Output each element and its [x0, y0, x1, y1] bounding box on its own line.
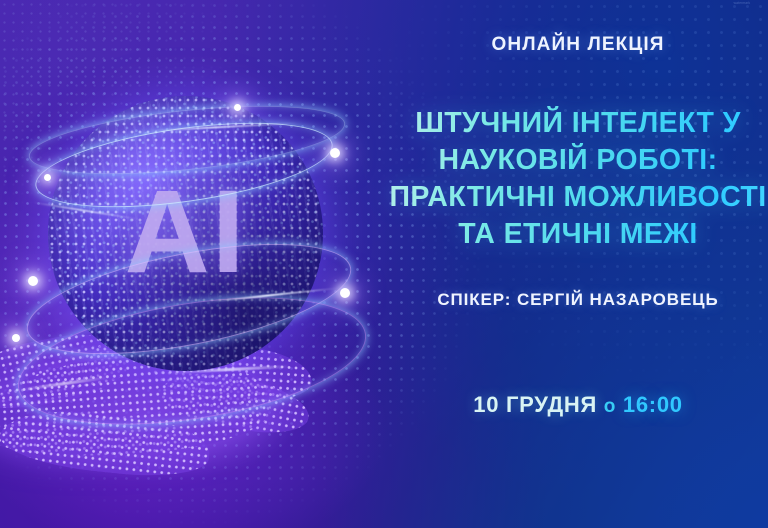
particle-globe-icon: AI — [18, 88, 378, 388]
ring-node — [28, 276, 38, 286]
event-date: 10 ГРУДНЯ — [473, 392, 597, 417]
title-line-4: ТА ЕТИЧНІ МЕЖІ — [378, 216, 768, 253]
datetime-separator: о — [604, 396, 616, 417]
event-datetime: 10 ГРУДНЯ о 16:00 — [388, 392, 768, 418]
lecture-poster: AI ОНЛАЙН ЛЕКЦІЯ ШТУЧНИЙ ІНТЕЛЕКТ У НАУК… — [0, 0, 768, 528]
ring-node — [234, 104, 241, 111]
watermark: watermark — [720, 1, 764, 6]
ring-node — [44, 174, 51, 181]
ring-node — [340, 288, 350, 298]
ring-node — [12, 334, 20, 342]
title-line-2: НАУКОВІЙ РОБОТІ: — [378, 142, 768, 179]
ring-node — [330, 148, 340, 158]
title-line-1: ШТУЧНИЙ ІНТЕЛЕКТ У — [378, 105, 768, 142]
event-time: 16:00 — [623, 392, 683, 417]
event-type-kicker: ОНЛАЙН ЛЕКЦІЯ — [388, 34, 768, 56]
speaker-line: СПІКЕР: СЕРГІЙ НАЗАРОВЕЦЬ — [388, 290, 768, 310]
ai-label: AI — [48, 96, 323, 371]
poster-text-column: ОНЛАЙН ЛЕКЦІЯ ШТУЧНИЙ ІНТЕЛЕКТ У НАУКОВІ… — [388, 0, 768, 528]
page-title: ШТУЧНИЙ ІНТЕЛЕКТ У НАУКОВІЙ РОБОТІ: ПРАК… — [378, 105, 768, 253]
title-line-3: ПРАКТИЧНІ МОЖЛИВОСТІ — [378, 179, 768, 216]
